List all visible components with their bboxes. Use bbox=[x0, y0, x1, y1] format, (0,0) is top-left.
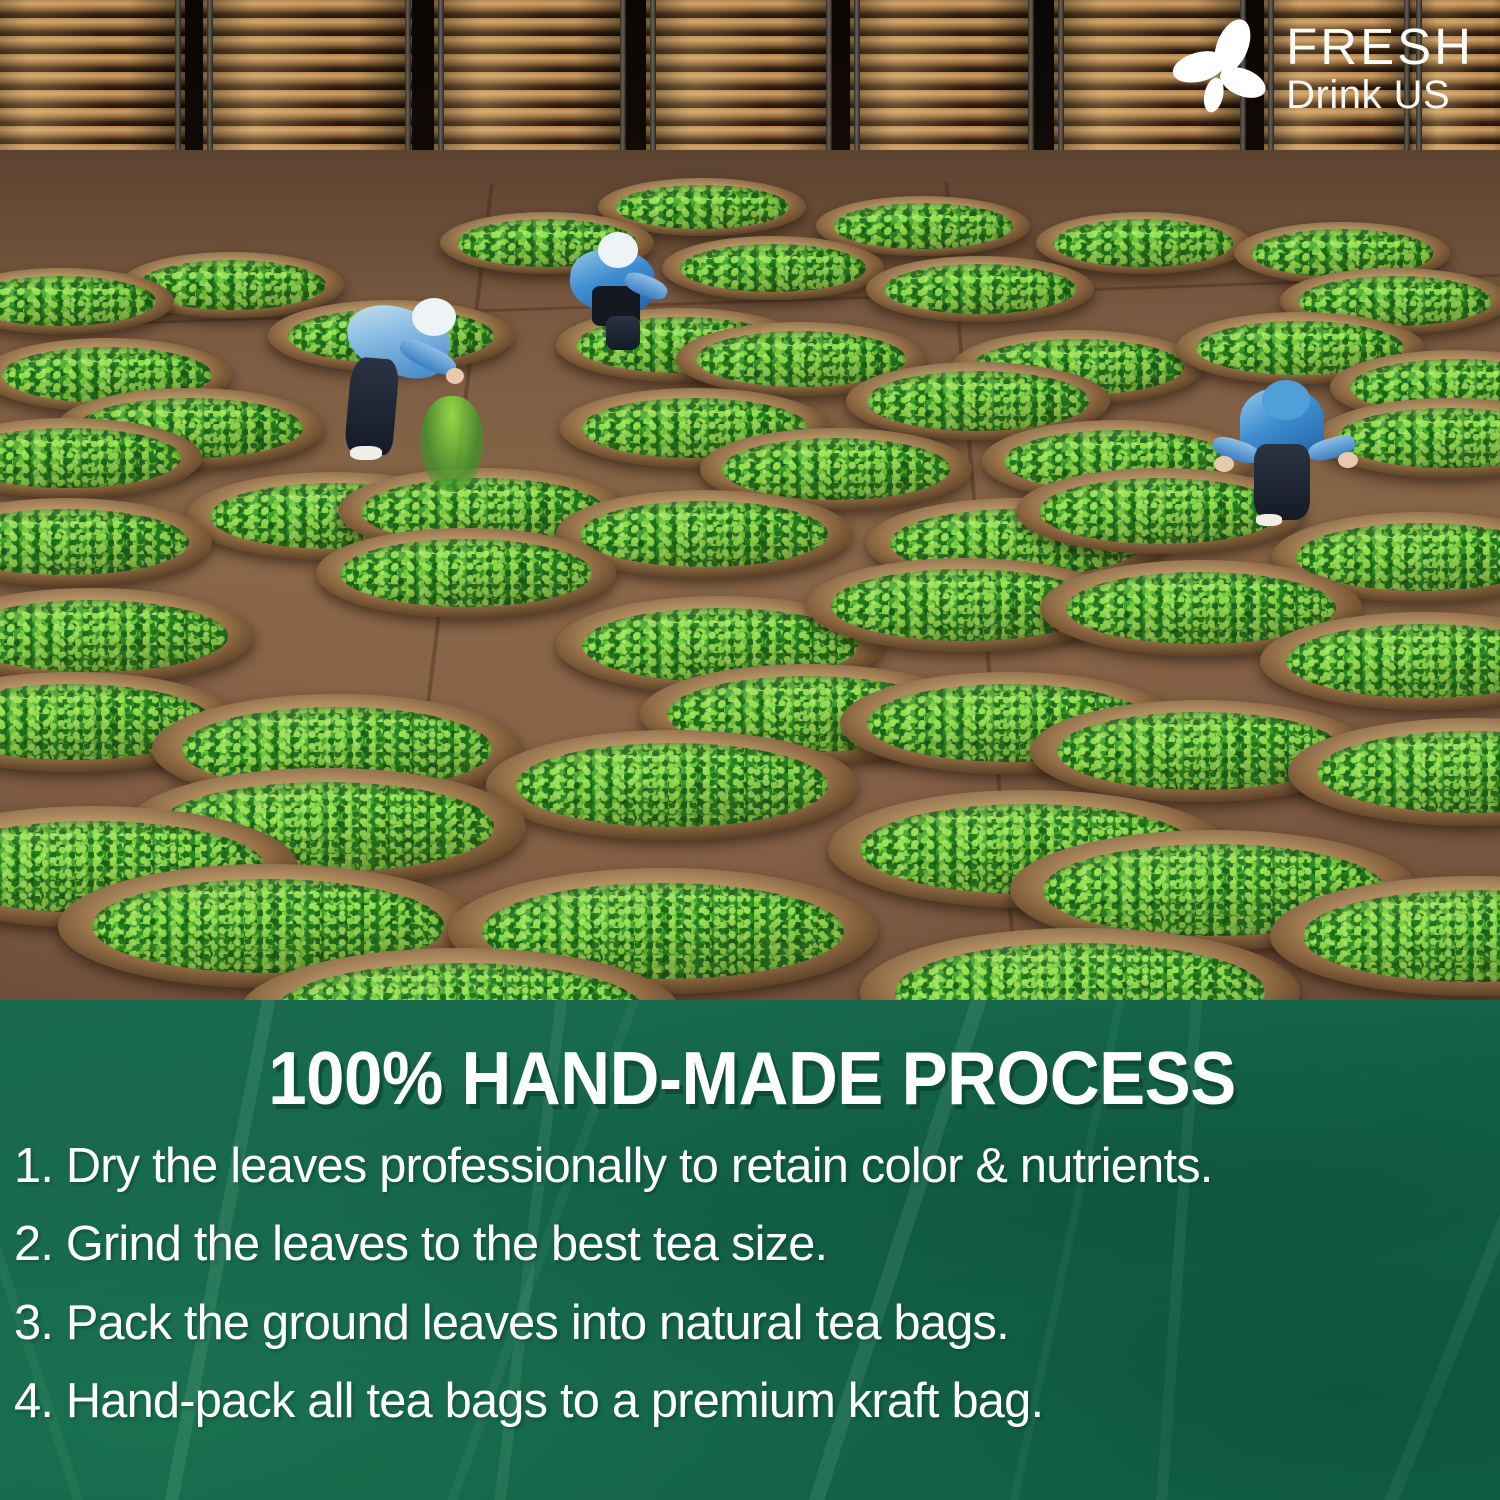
falling-leaves bbox=[420, 396, 484, 492]
brand-wordmark: FRESH Drink US bbox=[1286, 21, 1474, 119]
worker-legs bbox=[1254, 444, 1310, 520]
worker-right bbox=[1212, 378, 1360, 534]
worker-cap bbox=[412, 298, 456, 336]
worker-legs bbox=[344, 356, 400, 456]
worker-hand bbox=[1338, 452, 1358, 468]
factory-photo: FRESH Drink US bbox=[0, 0, 1500, 1000]
brand-logo[interactable]: FRESH Drink US bbox=[1168, 18, 1474, 122]
list-item: 2. Grind the leaves to the best tea size… bbox=[14, 1219, 1468, 1269]
tea-tray bbox=[866, 256, 1094, 322]
page-title: 100% HAND-MADE PROCESS bbox=[73, 1040, 1431, 1117]
list-item: 3. Pack the ground leaves into natural t… bbox=[14, 1298, 1468, 1348]
brand-name-primary: FRESH bbox=[1286, 21, 1474, 72]
list-item: 1. Dry the leaves professionally to reta… bbox=[14, 1141, 1468, 1191]
process-banner: 100% HAND-MADE PROCESS 1. Dry the leaves… bbox=[0, 1000, 1500, 1500]
worker-cap bbox=[1262, 380, 1310, 420]
product-infographic-poster: FRESH Drink US 100% HAND-MADE PROCESS 1.… bbox=[0, 0, 1500, 1500]
list-item: 4. Hand-pack all tea bags to a premium k… bbox=[14, 1376, 1468, 1426]
worker-shoe bbox=[350, 446, 382, 460]
worker-shoe bbox=[1256, 514, 1282, 526]
process-steps-list: 1. Dry the leaves professionally to reta… bbox=[14, 1141, 1490, 1426]
worker-back-center bbox=[562, 224, 672, 352]
worker-center-left bbox=[336, 292, 486, 482]
four-leaf-flower-icon bbox=[1168, 18, 1272, 122]
tray-rack bbox=[646, 0, 836, 175]
tea-tray bbox=[1036, 212, 1250, 274]
worker-cap bbox=[598, 232, 638, 268]
brand-name-secondary: Drink US bbox=[1286, 75, 1474, 115]
tea-tray bbox=[486, 730, 858, 840]
worker-legs bbox=[606, 316, 640, 350]
tea-tray bbox=[662, 236, 884, 300]
worker-hand bbox=[446, 368, 464, 384]
tea-tray bbox=[316, 528, 616, 618]
worker-hand bbox=[1214, 456, 1234, 472]
